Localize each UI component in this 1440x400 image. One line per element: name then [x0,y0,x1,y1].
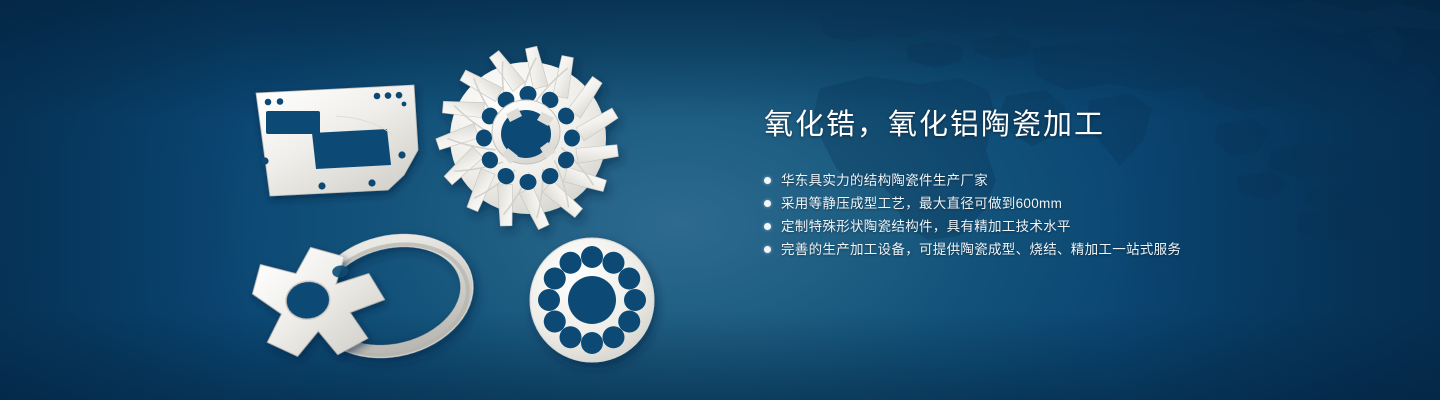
feature-item: 采用等静压成型工艺，最大直径可做到600mm [764,192,1364,215]
feature-text: 完善的生产加工设备，可提供陶瓷成型、烧结、精加工一站式服务 [781,238,1181,261]
background-left-vignette [0,0,250,400]
feature-item: 华东具实力的结构陶瓷件生产厂家 [764,169,1364,192]
bullet-dot-icon [764,177,771,184]
product-ceramic-perforated-disc [530,238,654,362]
product-ceramic-flat-plate [256,85,418,196]
banner-title: 氧化锆，氧化铝陶瓷加工 [764,108,1364,143]
feature-text: 华东具实力的结构陶瓷件生产厂家 [781,169,988,192]
banner-content: 氧化锆，氧化铝陶瓷加工 华东具实力的结构陶瓷件生产厂家 采用等静压成型工艺，最大… [764,108,1364,261]
feature-item: 完善的生产加工设备，可提供陶瓷成型、烧结、精加工一站式服务 [764,238,1364,261]
bullet-dot-icon [764,200,771,207]
feature-item: 定制特殊形状陶瓷结构件，具有精加工技术水平 [764,215,1364,238]
bullet-dot-icon [764,223,771,230]
hero-banner: 氧化锆，氧化铝陶瓷加工 华东具实力的结构陶瓷件生产厂家 采用等静压成型工艺，最大… [0,0,1440,400]
product-photo-group [232,38,702,383]
feature-text: 定制特殊形状陶瓷结构件，具有精加工技术水平 [781,215,1071,238]
bullet-dot-icon [764,246,771,253]
product-ceramic-vaned-impeller [434,43,623,231]
feature-text: 采用等静压成型工艺，最大直径可做到600mm [781,192,1062,215]
feature-list: 华东具实力的结构陶瓷件生产厂家 采用等静压成型工艺，最大直径可做到600mm 定… [764,169,1364,261]
